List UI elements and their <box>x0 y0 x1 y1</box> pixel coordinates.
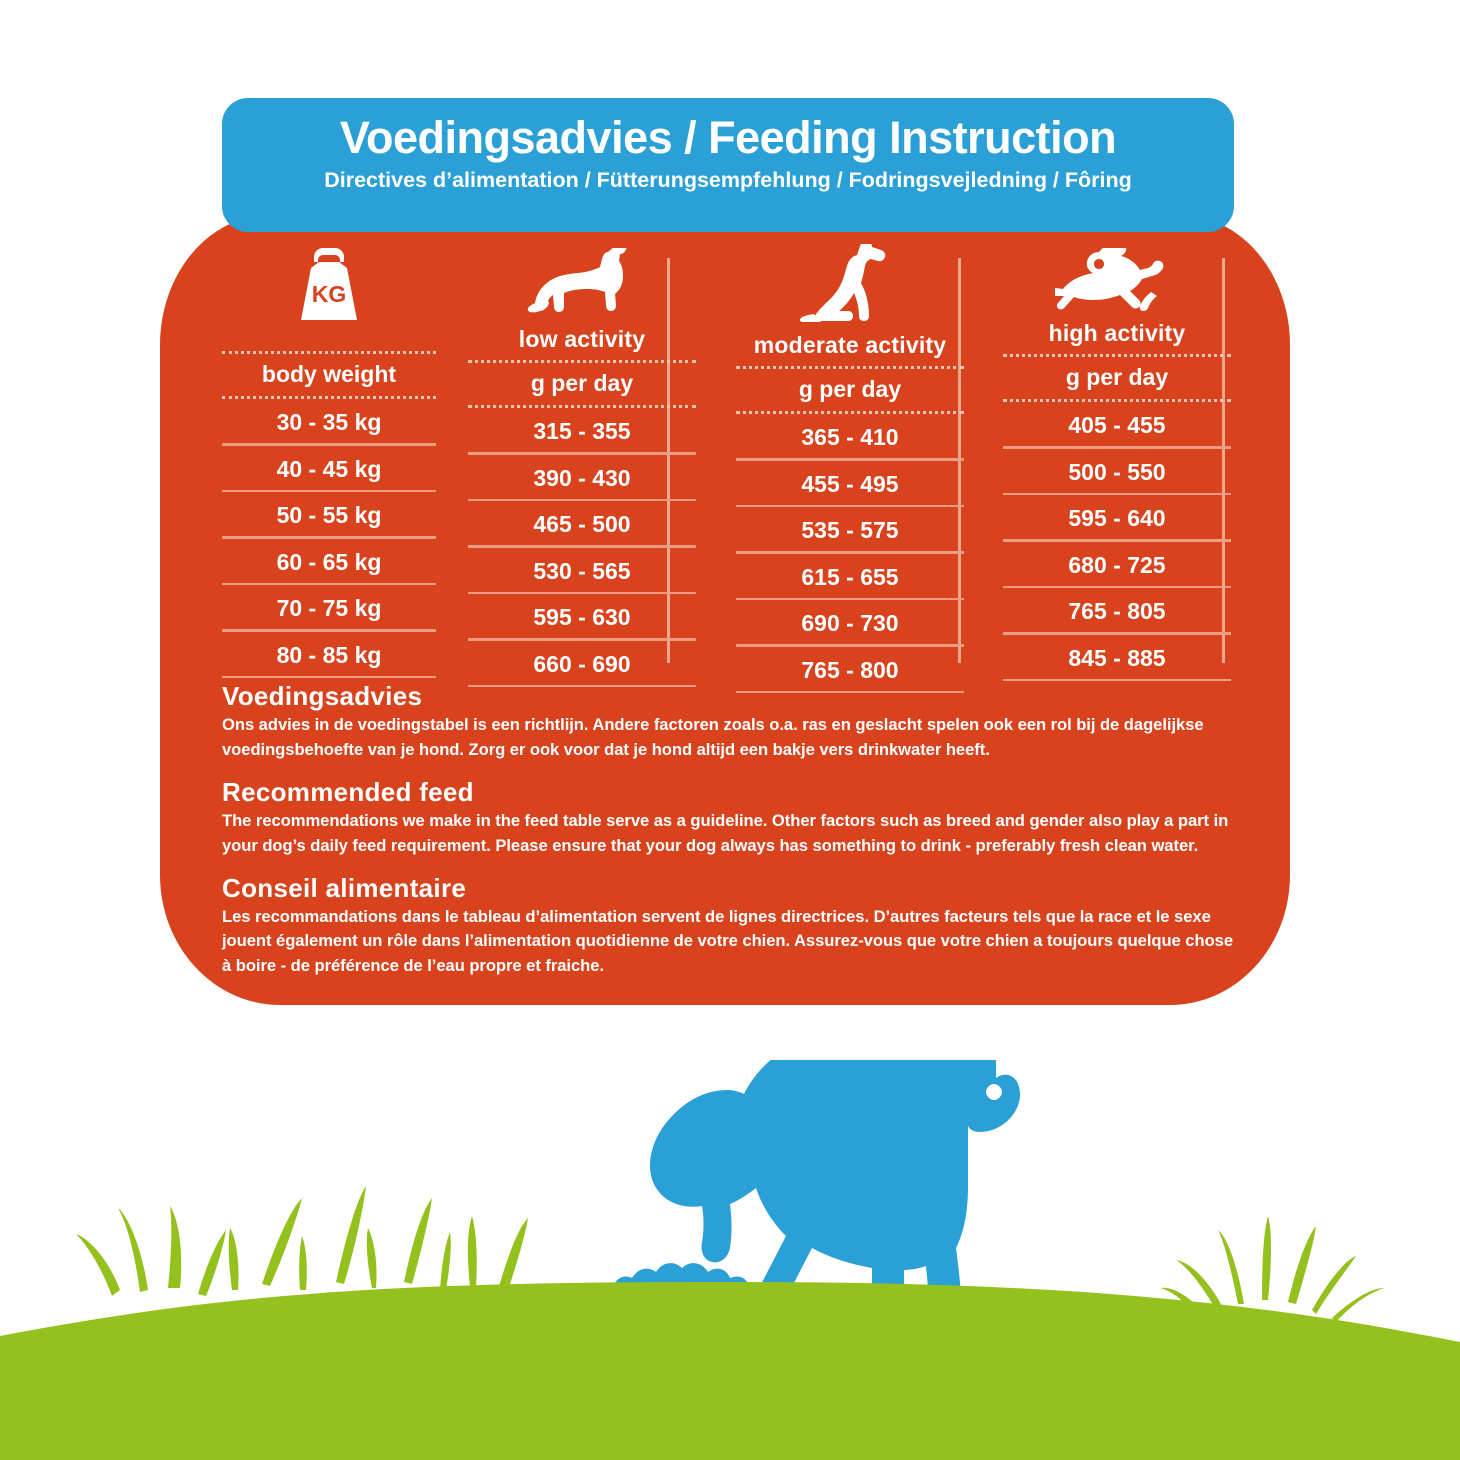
header-banner: Voedingsadvies / Feeding Instruction Dir… <box>222 98 1234 232</box>
column-caption: high activity <box>1049 314 1186 352</box>
advice-section-nl: Voedingsadvies Ons advies in de voedings… <box>222 681 1244 763</box>
section-title: Recommended feed <box>222 777 1244 808</box>
table-cell: 405 - 455 <box>984 402 1250 449</box>
table-cell: 530 - 565 <box>448 548 716 595</box>
illustration-scene <box>0 1060 1460 1460</box>
table-column-low-activity: low activity g per day 315 - 355 390 - 4… <box>448 248 716 678</box>
section-title: Voedingsadvies <box>222 681 1244 712</box>
table-cell: 535 - 575 <box>716 507 984 554</box>
dog-sitting-icon <box>716 248 984 326</box>
section-body: The recommendations we make in the feed … <box>222 809 1244 859</box>
table-cell: 690 - 730 <box>716 600 984 647</box>
table-cell: 70 - 75 kg <box>210 585 448 632</box>
table-cell: 80 - 85 kg <box>210 632 448 679</box>
column-unit: g per day <box>799 369 901 409</box>
advice-section-fr: Conseil alimentaire Les recommandations … <box>222 873 1244 980</box>
column-caption: low activity <box>519 320 645 358</box>
column-unit: body weight <box>262 354 396 394</box>
table-cell: 60 - 65 kg <box>210 539 448 586</box>
section-body: Les recommandations dans le tableau d’al… <box>222 905 1244 980</box>
feeding-table: KG body weight 30 - 35 kg 40 - 45 kg 50 … <box>210 248 1250 678</box>
column-unit: g per day <box>1066 357 1168 397</box>
feeding-instruction-graphic: Voedingsadvies / Feeding Instruction Dir… <box>0 0 1460 1460</box>
dog-running-icon <box>984 248 1250 314</box>
header-subtitle: Directives d’alimentation / Fütterungsem… <box>222 168 1234 193</box>
grass-icon <box>76 1186 528 1296</box>
table-cell: 30 - 35 kg <box>210 399 448 446</box>
table-cell: 595 - 630 <box>448 594 716 641</box>
table-cell: 50 - 55 kg <box>210 492 448 539</box>
table-cell: 765 - 805 <box>984 588 1250 635</box>
column-cells: 365 - 410 455 - 495 535 - 575 615 - 655 … <box>716 414 984 693</box>
kg-weight-icon: KG <box>210 248 448 326</box>
grass-hill <box>0 1282 1460 1460</box>
advice-section-en: Recommended feed The recommendations we … <box>222 777 1244 859</box>
table-cell: 390 - 430 <box>448 455 716 502</box>
section-body: Ons advies in de voedingstabel is een ri… <box>222 713 1244 763</box>
spacer <box>222 859 1244 873</box>
table-column-body-weight: KG body weight 30 - 35 kg 40 - 45 kg 50 … <box>210 248 448 678</box>
table-cell: 680 - 725 <box>984 542 1250 589</box>
column-cells: 315 - 355 390 - 430 465 - 500 530 - 565 … <box>448 408 716 687</box>
advice-sections: Voedingsadvies Ons advies in de voedings… <box>222 681 1244 979</box>
table-cell: 845 - 885 <box>984 635 1250 682</box>
table-cell: 465 - 500 <box>448 501 716 548</box>
section-title: Conseil alimentaire <box>222 873 1244 904</box>
header-title: Voedingsadvies / Feeding Instruction <box>222 115 1234 161</box>
table-column-moderate-activity: moderate activity g per day 365 - 410 45… <box>716 248 984 678</box>
table-cell: 455 - 495 <box>716 461 984 508</box>
svg-text:KG: KG <box>312 281 347 307</box>
table-cell: 315 - 355 <box>448 408 716 455</box>
table-cell: 40 - 45 kg <box>210 446 448 493</box>
column-caption: moderate activity <box>754 326 947 364</box>
column-cells: 30 - 35 kg 40 - 45 kg 50 - 55 kg 60 - 65… <box>210 399 448 678</box>
table-cell: 595 - 640 <box>984 495 1250 542</box>
table-cell: 500 - 550 <box>984 449 1250 496</box>
table-cell: 615 - 655 <box>716 554 984 601</box>
column-unit: g per day <box>531 363 633 403</box>
dog-lying-icon <box>448 248 716 320</box>
spacer <box>222 763 1244 777</box>
table-cell: 365 - 410 <box>716 414 984 461</box>
column-cells: 405 - 455 500 - 550 595 - 640 680 - 725 … <box>984 402 1250 681</box>
table-column-high-activity: high activity g per day 405 - 455 500 - … <box>984 248 1250 678</box>
